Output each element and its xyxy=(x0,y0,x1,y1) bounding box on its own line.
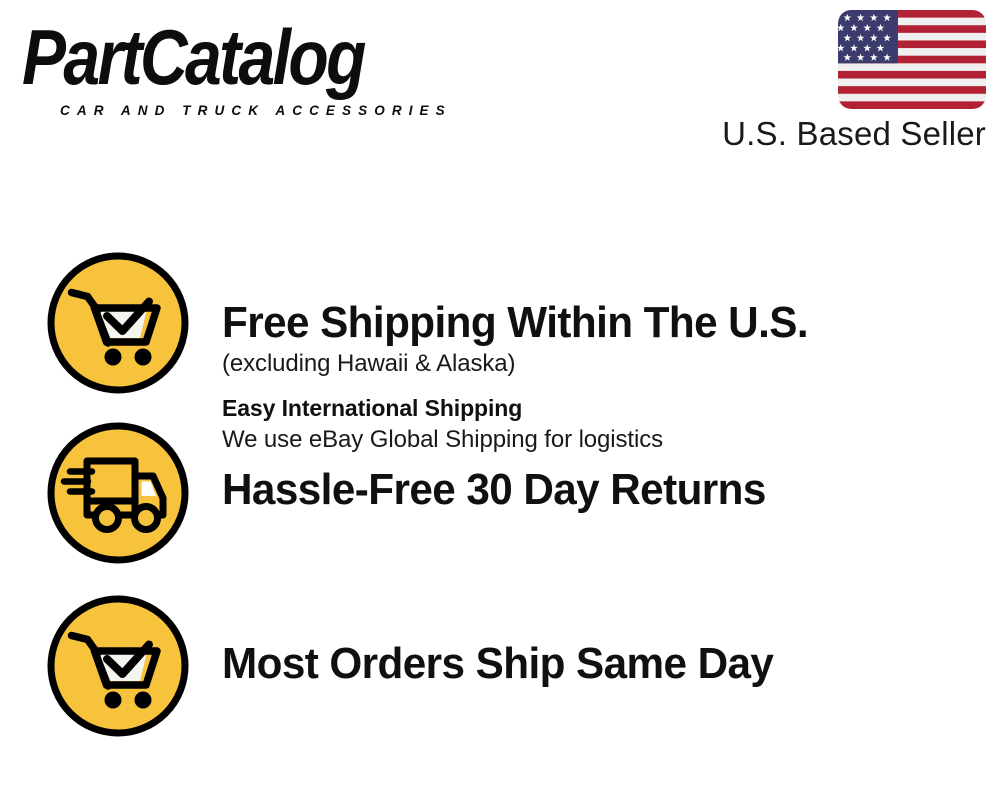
spacer xyxy=(222,380,992,392)
brand-logo[interactable]: PartCatalog CAR AND TRUCK ACCESSORIES xyxy=(22,18,492,113)
us-based-seller-badge: U.S. Based Seller xyxy=(720,10,986,153)
benefit-row-free-shipping: Free Shipping Within The U.S. (excluding… xyxy=(0,250,1000,400)
us-based-seller-label: U.S. Based Seller xyxy=(720,115,986,153)
us-flag-icon xyxy=(838,10,986,109)
shopping-cart-check-icon xyxy=(45,250,191,396)
brand-wordmark: PartCatalog xyxy=(22,18,492,96)
benefit-title: Hassle-Free 30 Day Returns xyxy=(222,465,961,515)
benefit-text-same-day-shipping: Most Orders Ship Same Day xyxy=(222,639,992,689)
brand-tagline: CAR AND TRUCK ACCESSORIES xyxy=(60,104,452,118)
benefits-list: Free Shipping Within The U.S. (excluding… xyxy=(0,180,1000,800)
benefit-row-returns: Hassle-Free 30 Day Returns xyxy=(0,420,1000,570)
benefit-title: Most Orders Ship Same Day xyxy=(222,639,961,689)
delivery-truck-icon xyxy=(45,420,191,566)
shopping-cart-check-icon xyxy=(45,593,191,739)
benefit-row-same-day-shipping: Most Orders Ship Same Day xyxy=(0,593,1000,743)
banner-header: PartCatalog CAR AND TRUCK ACCESSORIES xyxy=(0,0,1000,180)
benefit-note: (excluding Hawaii & Alaska) xyxy=(222,348,992,380)
benefit-text-returns: Hassle-Free 30 Day Returns xyxy=(222,465,992,515)
benefit-title: Free Shipping Within The U.S. xyxy=(222,298,961,348)
